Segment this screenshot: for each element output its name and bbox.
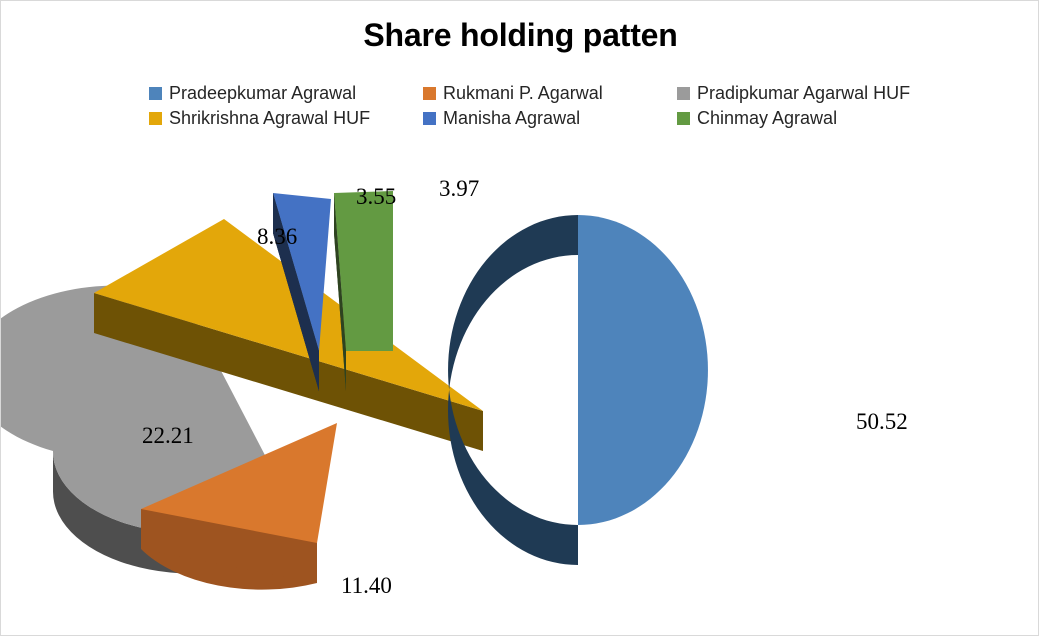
pie-plot-area: 50.52 11.40 22.21 8.36 3.55 3.97 (1, 151, 1039, 636)
legend-label-pradeepkumar-agrawal: Pradeepkumar Agrawal (169, 83, 356, 104)
chart-legend: Pradeepkumar Agrawal Rukmani P. Agarwal … (1, 83, 1039, 133)
legend-item-chinmay-agrawal[interactable]: Chinmay Agrawal (677, 108, 837, 129)
legend-label-chinmay-agrawal: Chinmay Agrawal (697, 108, 837, 129)
legend-swatch-shrikrishna-agrawal-huf (149, 112, 162, 125)
legend-label-manisha-agrawal: Manisha Agrawal (443, 108, 580, 129)
data-label-gray: 22.21 (142, 423, 194, 449)
data-label-green: 3.97 (439, 176, 479, 202)
data-label-darkblue: 3.55 (356, 184, 396, 210)
pie-slice-blue-top (578, 215, 708, 525)
legend-item-pradeepkumar-agrawal[interactable]: Pradeepkumar Agrawal (149, 83, 401, 104)
legend-row-2: Shrikrishna Agrawal HUF Manisha Agrawal … (1, 108, 1039, 129)
legend-row-1: Pradeepkumar Agrawal Rukmani P. Agarwal … (1, 83, 1039, 104)
legend-item-shrikrishna-agrawal-huf[interactable]: Shrikrishna Agrawal HUF (149, 108, 401, 129)
legend-swatch-pradipkumar-agarwal-huf (677, 87, 690, 100)
pie-slice-blue-side (448, 215, 578, 565)
pie-svg (1, 151, 1039, 636)
legend-item-pradipkumar-agarwal-huf[interactable]: Pradipkumar Agarwal HUF (677, 83, 910, 104)
legend-label-shrikrishna-agrawal-huf: Shrikrishna Agrawal HUF (169, 108, 370, 129)
legend-swatch-pradeepkumar-agrawal (149, 87, 162, 100)
legend-swatch-manisha-agrawal (423, 112, 436, 125)
pie-slice-pradeepkumar-agrawal[interactable] (448, 215, 708, 565)
chart-title: Share holding patten (1, 17, 1039, 54)
legend-item-manisha-agrawal[interactable]: Manisha Agrawal (423, 108, 655, 129)
data-label-yellow: 8.36 (257, 224, 297, 250)
legend-label-rukmani-p-agarwal: Rukmani P. Agarwal (443, 83, 603, 104)
legend-label-pradipkumar-agarwal-huf: Pradipkumar Agarwal HUF (697, 83, 910, 104)
legend-item-rukmani-p-agarwal[interactable]: Rukmani P. Agarwal (423, 83, 655, 104)
legend-swatch-chinmay-agrawal (677, 112, 690, 125)
legend-swatch-rukmani-p-agarwal (423, 87, 436, 100)
data-label-orange: 11.40 (341, 573, 392, 599)
data-label-blue: 50.52 (856, 409, 908, 435)
chart-canvas: Share holding patten Pradeepkumar Agrawa… (0, 0, 1039, 636)
